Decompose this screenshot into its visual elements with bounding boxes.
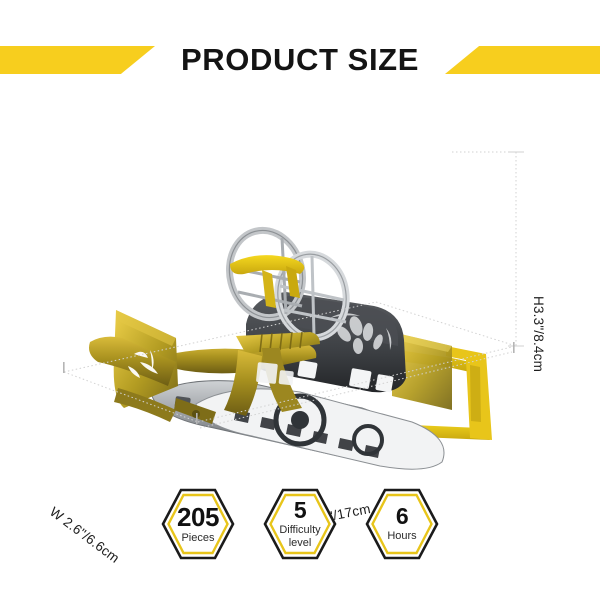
badge-pieces-label: Pieces [177,532,219,545]
badge-difficulty-label-line2: level [279,537,320,550]
header-banner: PRODUCT SIZE [0,0,600,110]
badge-difficulty: 5 Difficulty level [261,486,339,562]
page-title: PRODUCT SIZE [0,40,600,80]
badge-pieces-value: 205 [177,504,219,530]
badge-difficulty-value: 5 [279,499,320,522]
badge-hours-value: 6 [387,505,416,528]
dimension-label-height: H3.3"/8.4cm [531,296,546,372]
badge-hours: 6 Hours [363,486,441,562]
product-stage: H3.3"/8.4cm L 6.7"/17cm W 2.6"/6.6cm [0,110,600,470]
badge-hours-label: Hours [387,530,416,543]
badge-pieces: 205 Pieces [159,486,237,562]
dimension-guides [0,110,600,470]
badge-difficulty-label-line1: Difficulty [279,524,320,537]
spec-badge-row: 205 Pieces 5 Difficulty level 6 Hours [0,484,600,564]
